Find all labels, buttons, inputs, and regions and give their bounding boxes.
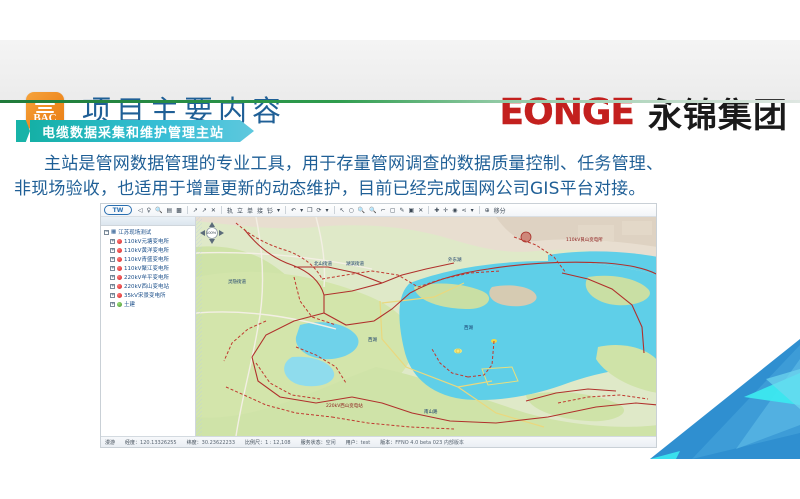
tree-item-list: +110kV元塘变电所+110kV黄洋变电所+110kV青盛变电所+110kV聚… [101,237,195,309]
map-navigation-control[interactable]: 100% [199,221,225,245]
tree-panel-header [101,217,195,226]
slide-header: BAC 项目主要内容 EONGE 永锦集团 [0,40,800,102]
tree-item[interactable]: +220kV西山变电站 [101,282,195,291]
layer-marker-red-icon [117,284,122,289]
zoom-in-icon[interactable]: 🔍 [357,207,366,214]
pan-hand-icon[interactable]: ♀ [146,207,152,214]
map-place-label: 西湖 [464,325,473,331]
status-version-label: 版本： [380,440,395,446]
undo-icon[interactable]: ↶ [290,207,297,214]
pencil-edit-icon[interactable]: ✎ [398,207,405,214]
rectangle-icon[interactable]: ▢ [389,207,397,214]
pointer-select-icon[interactable]: ◁ [137,207,144,214]
map-station-label[interactable]: 220kV西山变电站 [326,403,363,409]
status-latitude-label: 纬度： [187,440,202,446]
status-service-label: 服务状态： [301,440,326,446]
expand-icon[interactable]: + [110,239,115,244]
app-status-bar: 漫游 经度：120.13326255 纬度：30.23622233 比例尺：1 … [101,436,657,448]
globe-tool-label[interactable]: 移分 [493,206,507,215]
gis-application-screenshot: TW ◁ ♀ 🔍 ▤ ▩ ↗ ↗ ✕ 轨 立 单 接 钐 ▾ ↶ ▾ ❐ ⟳ ▾… [100,203,657,448]
tree-root-node[interactable]: − ▦ 江苏现场测试 [101,226,195,237]
expand-icon[interactable]: + [110,266,115,271]
tree-item[interactable]: +110kV元塘变电所 [101,237,195,246]
app-main-area: − ▦ 江苏现场测试 +110kV元塘变电所+110kV黄洋变电所+110kV青… [101,217,657,436]
fullextent-icon[interactable]: ⌐ [380,207,387,214]
track-tool-label[interactable]: 轨 [226,206,234,215]
map-station-label[interactable]: 110kV艮山变电所 [566,237,603,243]
status-version: 版本：FFNO 4.0 beta 023 内部版本 [380,439,464,446]
zoom-out-icon[interactable]: 🔍 [368,207,377,214]
add-node-icon[interactable]: ✛ [442,207,449,214]
section-ribbon: 电缆数据采集和维护管理主站 [16,120,254,142]
tree-item-label: 220kV西山变电站 [124,283,169,291]
layer-tree-panel[interactable]: − ▦ 江苏现场测试 +110kV元塘变电所+110kV黄洋变电所+110kV青… [101,217,196,436]
tree-item-label: 220kV牟平变电所 [124,274,169,282]
status-user-value: test [361,440,371,446]
tree-item[interactable]: +土建 [101,300,195,309]
expand-icon[interactable]: + [110,284,115,289]
tree-item-label: 土建 [124,301,135,309]
status-scale: 比例尺：1 : 12,108 [245,439,291,446]
expand-icon[interactable]: + [110,293,115,298]
status-latitude: 纬度：30.23622233 [187,439,235,446]
status-latitude-value: 30.23622233 [202,440,235,446]
brand-name-cn: 永锦集团 [648,88,788,137]
toolbar-separator [428,206,429,214]
measure-length-icon[interactable]: ↗ [192,207,199,214]
expand-icon[interactable]: + [110,257,115,262]
map-place-label: 湖滨街道 [346,261,364,267]
chevron-down-icon[interactable]: ▾ [325,207,330,214]
ribbon-body: 电缆数据采集和维护管理主站 [30,120,254,142]
expand-icon[interactable]: + [110,275,115,280]
layer-marker-red-icon [117,275,122,280]
tree-root-label: 江苏现场测试 [118,228,151,236]
move-icon[interactable]: ✚ [433,207,440,214]
ribbon-left-arrow-icon [16,120,30,142]
tree-root-marker-icon: ▦ [111,229,116,235]
tree-item[interactable]: +220kV牟平变电所 [101,273,195,282]
delete-x-icon[interactable]: ✕ [417,207,424,214]
layers-icon[interactable]: ▤ [166,207,174,214]
body-line-2: 非现场验收，也适用于增量更新的动态维护，目前已经完成国网公司GIS平台对接。 [14,177,774,202]
section-title: 电缆数据采集和维护管理主站 [42,122,224,141]
expand-icon[interactable]: + [110,248,115,253]
chevron-down-icon[interactable]: ▾ [470,207,475,214]
layer-marker-red-icon [117,239,122,244]
globe-icon[interactable]: ⊕ [484,207,491,214]
point-tool-label[interactable]: 立 [236,206,244,215]
map-place-label: 西湖 [368,337,377,343]
measure-area-icon[interactable]: ↗ [201,207,208,214]
clear-selection-icon[interactable]: ✕ [210,207,217,214]
tree-item-label: 35kV宋景变电所 [124,292,165,300]
circle-icon[interactable]: ○ [348,207,355,214]
refresh-icon[interactable]: ⟳ [315,207,322,214]
map-place-label: 灵隐街道 [228,279,246,285]
copy-icon[interactable]: ❐ [306,207,313,214]
map-place-label: 外东湖 [448,257,462,263]
brand-name-en: EONGE [500,92,634,133]
tree-item-label: 110kV元塘变电所 [124,238,169,246]
toolbar-separator [187,206,188,214]
map-place-label: 北山街道 [314,261,332,267]
page-icon[interactable]: ▣ [408,207,416,214]
tree-item[interactable]: +35kV宋景变电所 [101,291,195,300]
layer-marker-green-icon [117,302,122,307]
company-brand: EONGE 永锦集团 [500,90,788,134]
map-graphic [196,217,657,436]
tree-item[interactable]: +110kV黄洋变电所 [101,246,195,255]
status-service: 服务状态：空闲 [301,439,336,446]
status-mode: 漫游 [105,439,115,446]
single-tool-label[interactable]: 单 [246,206,254,215]
split-icon[interactable]: ⋖ [461,207,468,214]
toolbar-separator [221,206,222,214]
header-divider [0,100,800,103]
tree-item[interactable]: +110kV聚江变电所 [101,264,195,273]
arrow-cursor-icon[interactable]: ↖ [339,207,346,214]
toolbar-separator [285,206,286,214]
map-zoom-level-label: 100% [206,230,216,235]
slide-canvas: BAC 项目主要内容 EONGE 永锦集团 电缆数据采集和维护管理主站 主站是管… [0,0,800,499]
zoom-search-icon[interactable]: 🔍 [154,207,163,214]
app-toolbar: TW ◁ ♀ 🔍 ▤ ▩ ↗ ↗ ✕ 轨 立 单 接 钐 ▾ ↶ ▾ ❐ ⟳ ▾… [101,204,657,217]
bottom-white-band [0,459,800,499]
collapse-icon[interactable]: − [104,230,109,235]
layer-marker-red-icon [117,257,122,262]
tree-item-label: 110kV黄洋变电所 [124,247,169,255]
map-place-label: 南山路 [424,409,438,415]
snap-tool-label[interactable]: 钐 [266,206,274,215]
status-longitude: 经度：120.13326255 [125,439,177,446]
visibility-eye-icon[interactable]: ◉ [451,207,458,214]
status-service-value: 空闲 [326,440,336,446]
status-scale-label: 比例尺： [245,440,265,446]
chevron-down-icon[interactable]: ▾ [276,207,281,214]
decorative-triangles [640,339,800,459]
tree-item[interactable]: +110kV青盛变电所 [101,255,195,264]
chevron-down-icon[interactable]: ▾ [299,207,304,214]
connect-tool-label[interactable]: 接 [256,206,264,215]
tree-item-label: 110kV青盛变电所 [124,256,169,264]
layer-marker-red-icon [117,266,122,271]
grid-icon[interactable]: ▩ [175,207,183,214]
top-white-band [0,0,800,40]
layer-marker-red-icon [117,293,122,298]
status-user-label: 用户： [346,440,361,446]
body-paragraph: 主站是管网数据管理的专业工具，用于存量管网调查的数据质量控制、任务管理、 非现场… [44,152,774,202]
toolbar-separator [334,206,335,214]
tw-logo-icon[interactable]: TW [104,205,132,215]
tree-item-label: 110kV聚江变电所 [124,265,169,273]
status-version-value: FFNO 4.0 beta 023 内部版本 [395,440,464,446]
status-longitude-value: 120.13326255 [140,440,177,446]
layer-marker-red-icon [117,248,122,253]
body-line-1: 主站是管网数据管理的专业工具，用于存量管网调查的数据质量控制、任务管理、 [44,152,774,177]
status-user: 用户：test [346,439,371,446]
expand-icon[interactable]: + [110,302,115,307]
status-scale-value: 1 : 12,108 [265,440,291,446]
toolbar-separator [479,206,480,214]
status-longitude-label: 经度： [125,440,140,446]
map-canvas[interactable]: 100% 外东湖西湖西湖北山街道湖滨街道灵隐街道南山路 110kV艮山变电所22… [196,217,657,436]
